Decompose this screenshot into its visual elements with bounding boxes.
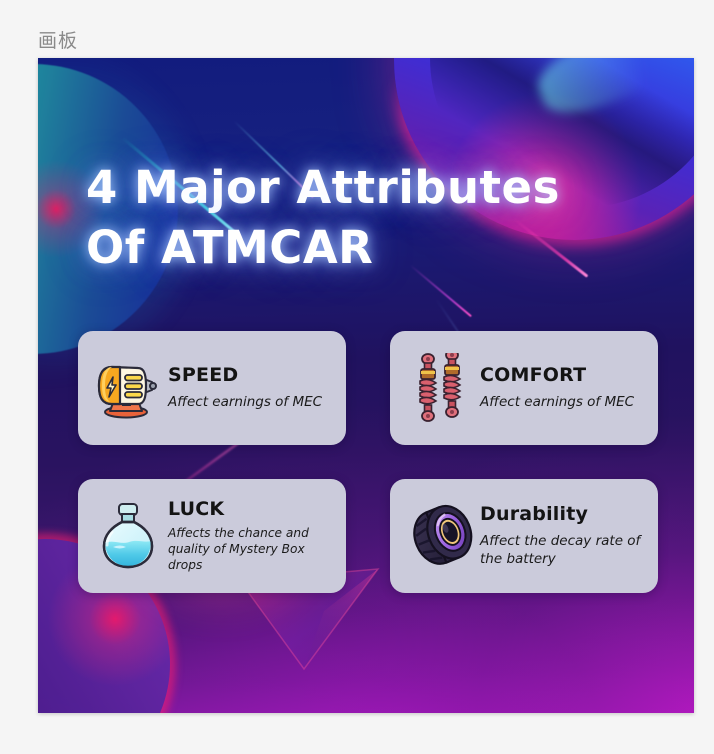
attribute-title: Durability	[480, 504, 646, 525]
poster-headline: 4 Major Attributes Of ATMCAR	[86, 158, 606, 278]
attribute-title: COMFORT	[480, 365, 646, 386]
potion-bottle-icon	[92, 496, 164, 576]
attribute-card-luck[interactable]: LUCK Affects the chance and quality of M…	[78, 479, 346, 593]
tire-wheel-icon	[404, 496, 476, 576]
attribute-description: Affect earnings of MEC	[480, 393, 646, 411]
attribute-card-text: LUCK Affects the chance and quality of M…	[164, 499, 334, 573]
turbine-engine-icon	[92, 348, 164, 428]
attribute-description: Affect the decay rate of the battery	[480, 532, 646, 568]
attribute-card-text: Durability Affect the decay rate of the …	[476, 504, 646, 568]
attribute-description: Affects the chance and quality of Myster…	[168, 525, 334, 573]
top-right-planet-shine	[529, 58, 692, 126]
attribute-card-grid: SPEED Affect earnings of MEC	[78, 331, 658, 593]
attribute-card-durability[interactable]: Durability Affect the decay rate of the …	[390, 479, 658, 593]
artboard-label: 画板	[38, 26, 78, 53]
poster-canvas[interactable]: 4 Major Attributes Of ATMCAR	[38, 58, 694, 713]
attribute-description: Affect earnings of MEC	[168, 393, 334, 411]
attribute-title: SPEED	[168, 365, 334, 386]
attribute-card-speed[interactable]: SPEED Affect earnings of MEC	[78, 331, 346, 445]
screen: 画板	[0, 0, 714, 754]
attribute-card-comfort[interactable]: COMFORT Affect earnings of MEC	[390, 331, 658, 445]
attribute-card-text: SPEED Affect earnings of MEC	[164, 365, 334, 411]
attribute-card-text: COMFORT Affect earnings of MEC	[476, 365, 646, 411]
shock-absorber-icon	[404, 348, 476, 428]
attribute-title: LUCK	[168, 499, 334, 520]
